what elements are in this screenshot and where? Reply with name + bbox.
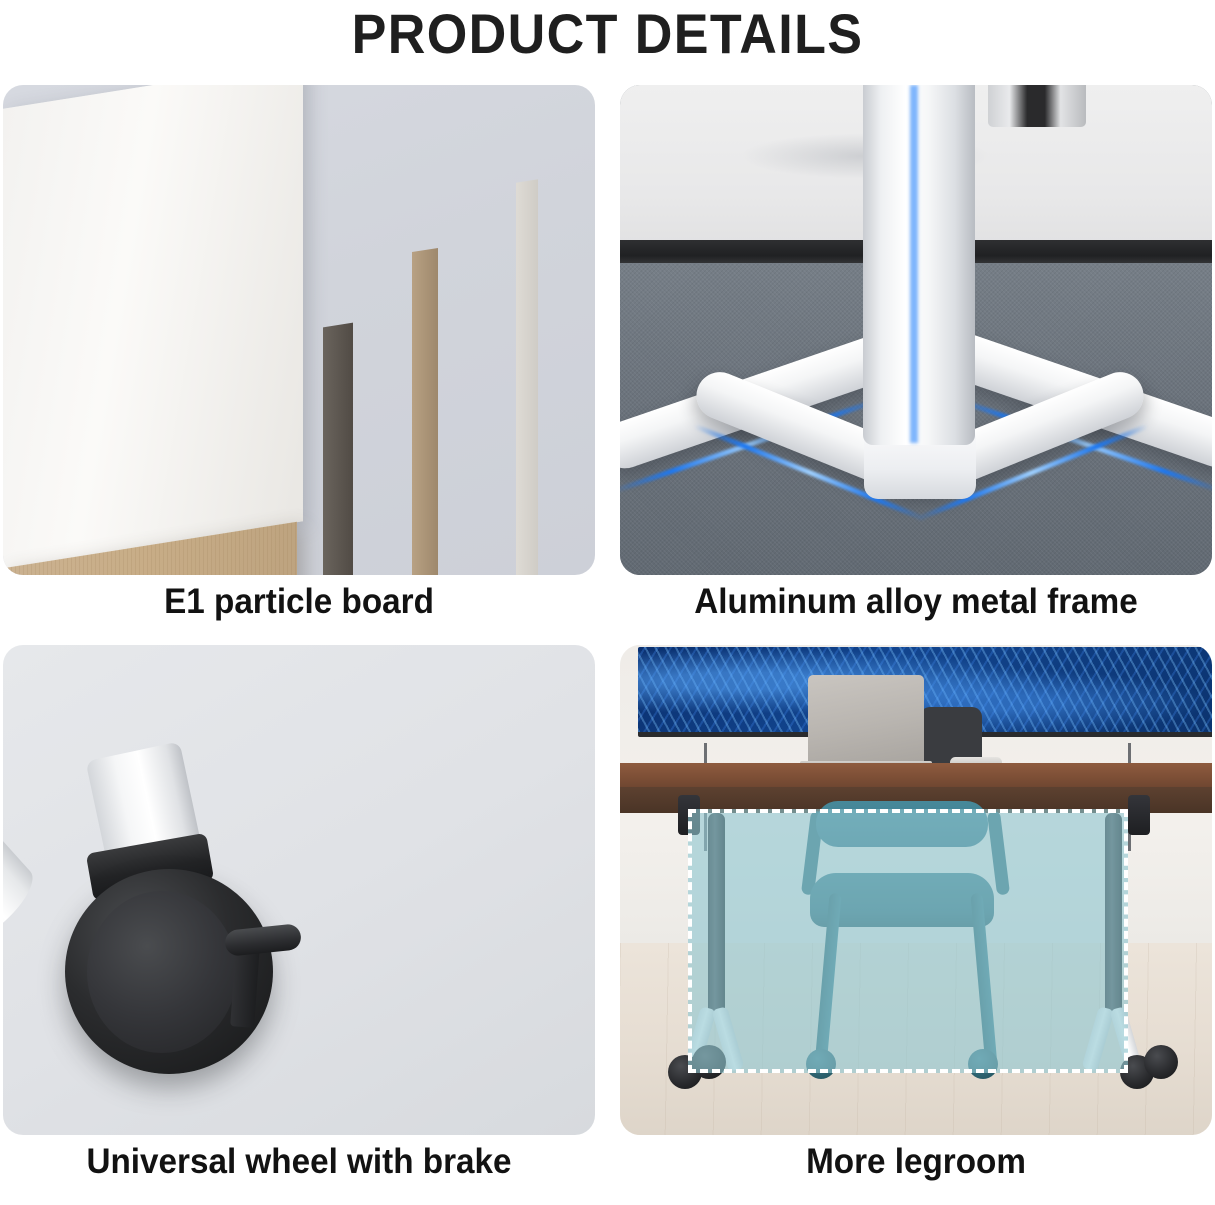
feature-cell-more-legroom: More legroom (620, 645, 1212, 1135)
caption-aluminum-frame: Aluminum alloy metal frame (635, 579, 1197, 625)
aluminum-frame-photo (620, 85, 1212, 575)
product-details-page: PRODUCT DETAILS E1 particle board (0, 0, 1215, 1205)
feature-cell-universal-wheel: Universal wheel with brake (3, 645, 595, 1135)
board-white (3, 85, 303, 569)
frame-center-column (863, 85, 975, 445)
caption-more-legroom: More legroom (635, 1139, 1197, 1185)
more-legroom-photo (620, 645, 1212, 1135)
feature-grid: E1 particle board Al (0, 85, 1215, 1205)
feature-cell-particle-board: E1 particle board (3, 85, 595, 575)
particle-board-photo (3, 85, 595, 575)
legroom-highlight-area (688, 809, 1128, 1073)
desk-top (620, 763, 1212, 789)
desk-caster-right-back (1144, 1045, 1178, 1079)
page-title: PRODUCT DETAILS (43, 2, 1173, 66)
table-leg-tube (3, 645, 44, 956)
column-glow-accent (909, 85, 919, 443)
caption-particle-board: E1 particle board (18, 579, 580, 625)
desk-bracket-right (1128, 795, 1150, 835)
universal-wheel-photo (3, 645, 595, 1135)
feature-cell-aluminum-frame: Aluminum alloy metal frame (620, 85, 1212, 575)
wall-object (988, 85, 1086, 127)
caster-wheel-hub (87, 891, 237, 1053)
board-gray-edge (323, 323, 353, 575)
caption-universal-wheel: Universal wheel with brake (18, 1139, 580, 1185)
board-tan-edge (412, 248, 438, 575)
laptop-screen (808, 675, 924, 763)
board-white-edge (516, 179, 538, 575)
